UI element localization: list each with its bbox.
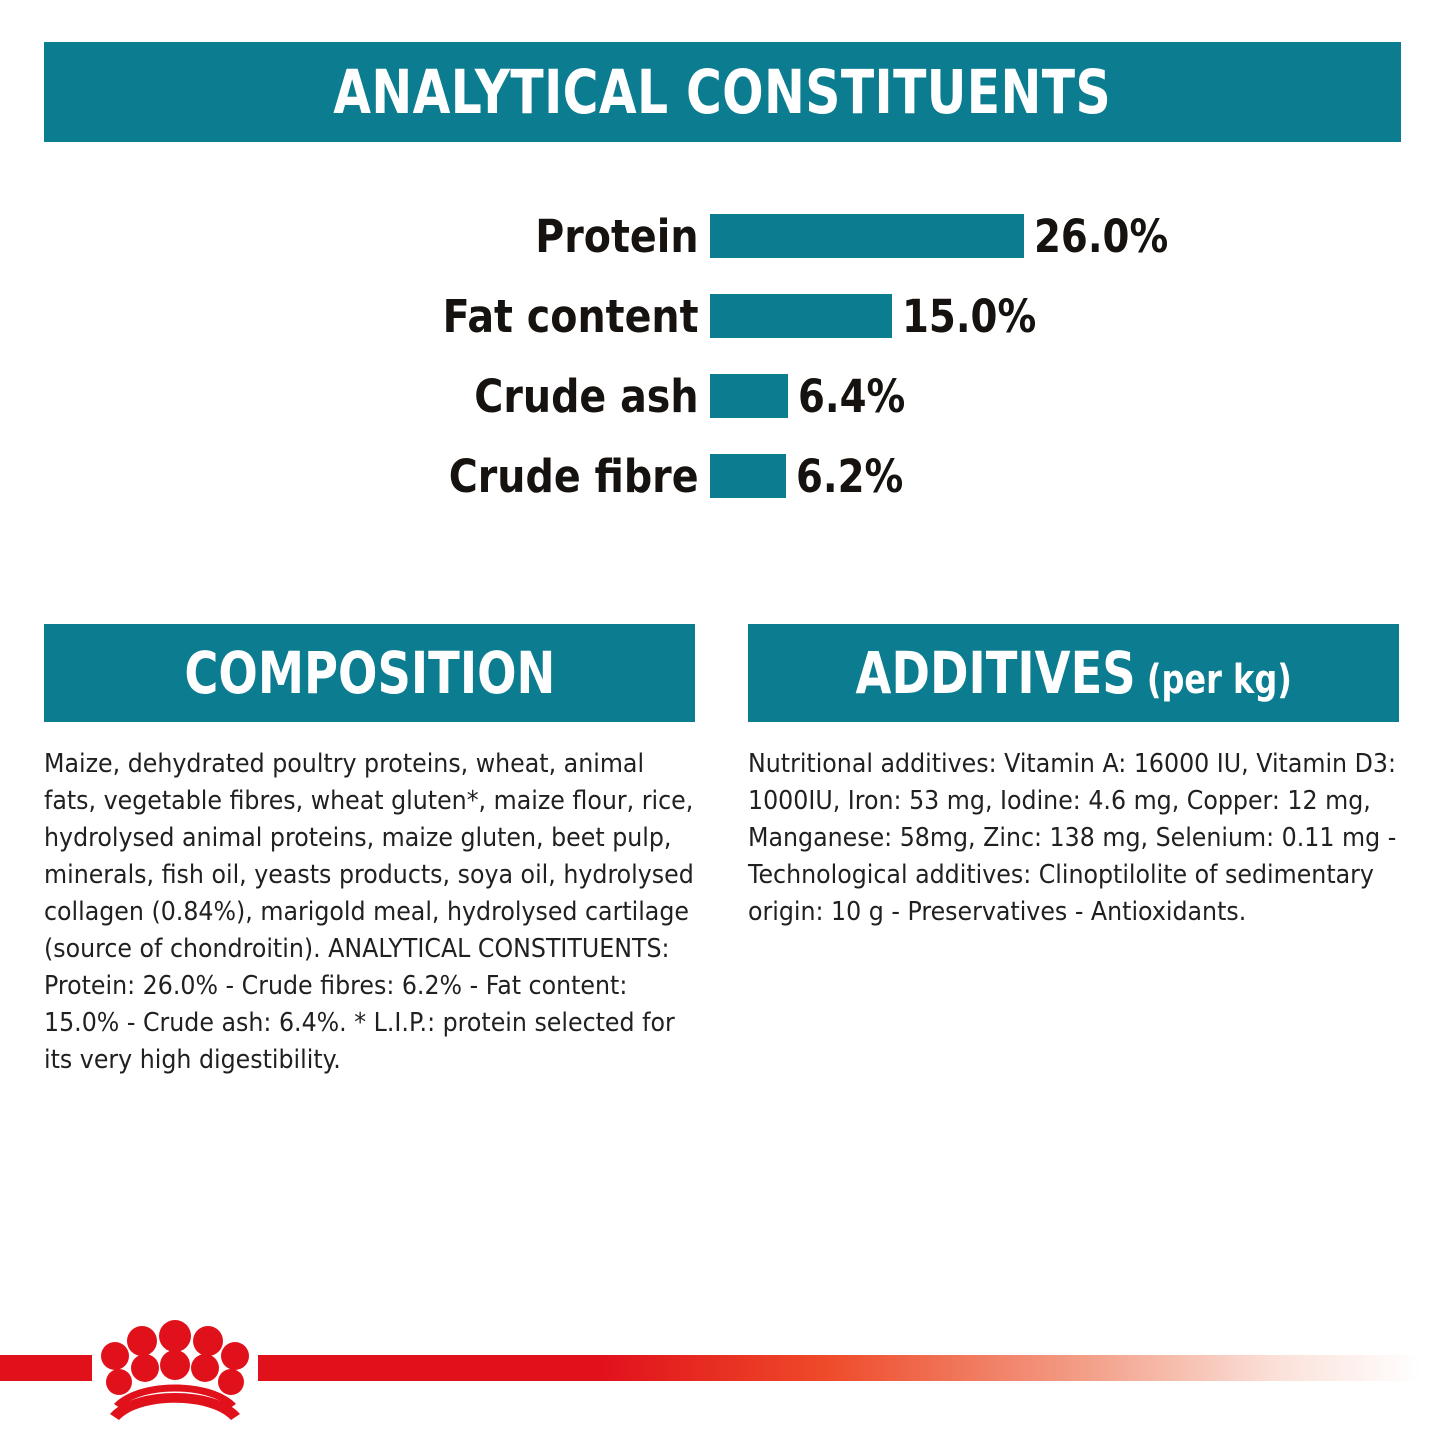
analytical-constituents-header-band: ANALYTICAL CONSTITUENTS xyxy=(44,42,1401,142)
chart-value-crude-fibre: 6.2% xyxy=(796,454,903,499)
additives-title-suffix: (per kg) xyxy=(1147,660,1292,700)
chart-label-crude-ash: Crude ash xyxy=(85,374,710,419)
chart-row: Crude ash 6.4% xyxy=(0,356,1445,436)
chart-label-crude-fibre: Crude fibre xyxy=(85,454,710,499)
royal-canin-crown-icon xyxy=(100,1312,250,1420)
chart-bar-group-protein: 26.0% xyxy=(710,214,1190,259)
chart-bar-group-crude-fibre: 6.2% xyxy=(710,454,921,499)
additives-body-text: Nutritional additives: Vitamin A: 16000 … xyxy=(748,746,1399,931)
chart-label-protein: Protein xyxy=(85,214,710,259)
chart-bar-group-fat-content: 15.0% xyxy=(710,294,1058,339)
composition-title-text: COMPOSITION xyxy=(184,644,555,702)
additives-panel: ADDITIVES (per kg) Nutritional additives… xyxy=(748,624,1399,1079)
additives-header-band: ADDITIVES (per kg) xyxy=(748,624,1399,722)
analytical-constituents-chart: Protein 26.0% Fat content 15.0% Crude as… xyxy=(0,196,1445,516)
chart-label-fat-content: Fat content xyxy=(85,294,710,339)
chart-bar-protein xyxy=(710,214,1024,258)
composition-panel: COMPOSITION Maize, dehydrated poultry pr… xyxy=(44,624,695,1079)
chart-bar-group-crude-ash: 6.4% xyxy=(710,374,923,419)
chart-bar-fat-content xyxy=(710,294,892,338)
info-panels: COMPOSITION Maize, dehydrated poultry pr… xyxy=(0,624,1445,1079)
chart-row: Fat content 15.0% xyxy=(0,276,1445,356)
footer-rule-left xyxy=(0,1355,92,1381)
footer xyxy=(0,1300,1445,1445)
chart-bar-crude-ash xyxy=(710,374,788,418)
chart-value-fat-content: 15.0% xyxy=(902,294,1036,339)
chart-value-crude-ash: 6.4% xyxy=(798,374,905,419)
footer-rule-right xyxy=(258,1355,1445,1381)
chart-row: Crude fibre 6.2% xyxy=(0,436,1445,516)
additives-title-text: ADDITIVES xyxy=(855,644,1135,702)
composition-body-text: Maize, dehydrated poultry proteins, whea… xyxy=(44,746,695,1079)
page-title: ANALYTICAL CONSTITUENTS xyxy=(334,62,1112,123)
composition-header-band: COMPOSITION xyxy=(44,624,695,722)
additives-title: ADDITIVES (per kg) xyxy=(855,644,1291,702)
chart-bar-crude-fibre xyxy=(710,454,786,498)
chart-value-protein: 26.0% xyxy=(1034,214,1168,259)
composition-title: COMPOSITION xyxy=(184,644,555,702)
chart-row: Protein 26.0% xyxy=(0,196,1445,276)
